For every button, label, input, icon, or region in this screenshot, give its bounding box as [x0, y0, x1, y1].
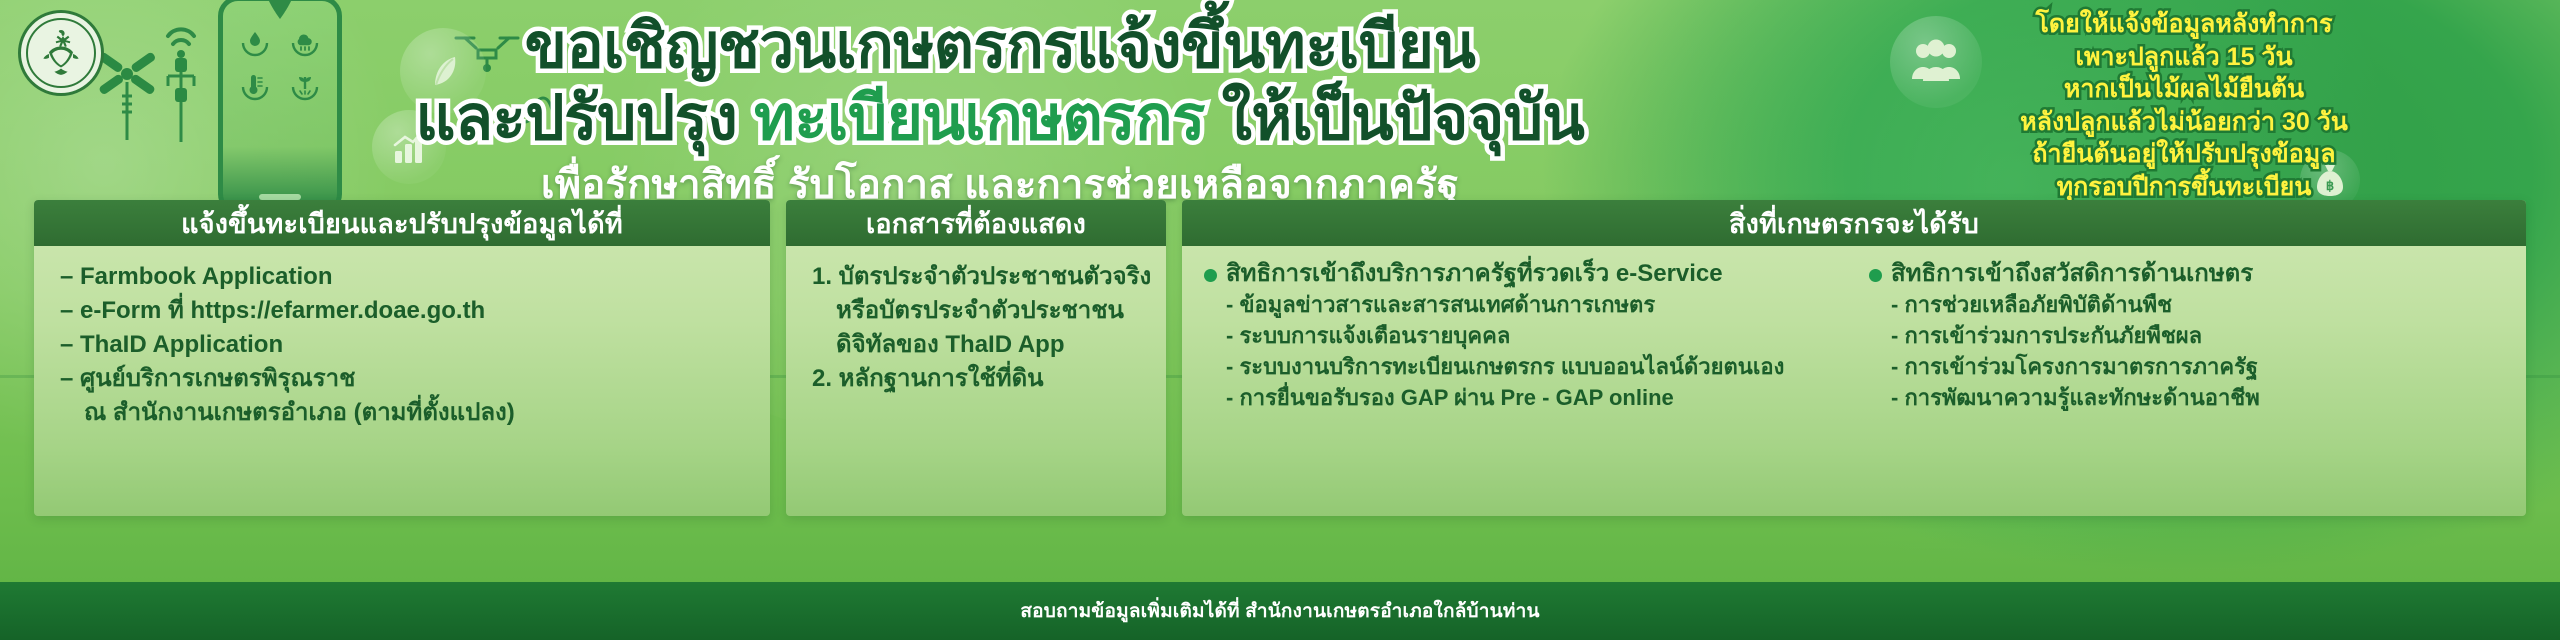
callout-line: โดยให้แจ้งข้อมูลหลังทำการ	[1904, 8, 2464, 41]
list-item: 2. หลักฐานการใช้ที่ดิน	[812, 362, 1144, 396]
callout-line: ถ้ายืนต้นอยู่ให้ปรับปรุงข้อมูล	[1904, 138, 2464, 171]
list-item: – ThaID Application	[60, 328, 748, 362]
headline-line-1: ขอเชิญชวนเกษตรกรแจ้งขึ้นทะเบียน	[0, 14, 2000, 80]
footer-note: สอบถามข้อมูลเพิ่มเติมได้ที่ สำนักงานเกษต…	[1020, 596, 1539, 626]
list-item: – e-Form ที่ https://efarmer.doae.go.th	[60, 294, 748, 328]
panel-mid-title: เอกสารที่ต้องแสดง	[866, 202, 1086, 245]
benefit-item: - ข้อมูลข่าวสารและสารสนเทศด้านการเกษตร	[1204, 290, 1843, 321]
callout-line: หลังปลูกแล้วไม่น้อยกว่า 30 วัน	[1904, 106, 2464, 139]
panel-right-title: สิ่งที่เกษตรกรจะได้รับ	[1729, 202, 1979, 245]
panel-left-title: แจ้งขึ้นทะเบียนและปรับปรุงข้อมูลได้ที่	[181, 202, 623, 245]
panel-farmer-benefits: สิ่งที่เกษตรกรจะได้รับ สิทธิการเข้าถึงบร…	[1182, 200, 2526, 516]
benefit-item: - ระบบการแจ้งเตือนรายบุคคล	[1204, 321, 1843, 352]
garuda-emblem-icon	[18, 10, 104, 96]
panel-right-header: สิ่งที่เกษตรกรจะได้รับ	[1182, 200, 2526, 246]
benefit-item: - การเข้าร่วมโครงการมาตรการภาครัฐ	[1869, 352, 2508, 383]
benefit-group-title: สิทธิการเข้าถึงบริการภาครัฐที่รวดเร็ว e-…	[1226, 258, 1723, 290]
list-item: 1. บัตรประจำตัวประชาชนตัวจริง	[812, 260, 1144, 294]
list-item: – Farmbook Application	[60, 260, 748, 294]
panel-left-header: แจ้งขึ้นทะเบียนและปรับปรุงข้อมูลได้ที่	[34, 200, 770, 246]
footer-strip: สอบถามข้อมูลเพิ่มเติมได้ที่ สำนักงานเกษต…	[0, 582, 2560, 640]
headline-block: ขอเชิญชวนเกษตรกรแจ้งขึ้นทะเบียน และปรับป…	[0, 14, 2000, 209]
headline-line-2-suffix: ให้เป็นปัจจุบัน	[1205, 84, 1585, 153]
list-item-continuation: ดิจิทัลของ ThaID App	[812, 328, 1144, 362]
panel-mid-header: เอกสารที่ต้องแสดง	[786, 200, 1166, 246]
benefit-group: สิทธิการเข้าถึงบริการภาครัฐที่รวดเร็ว e-…	[1204, 258, 1843, 290]
benefit-item: - การยื่นขอรับรอง GAP ผ่าน Pre - GAP onl…	[1204, 383, 1843, 414]
garuda-emblem-glyph	[36, 27, 86, 79]
benefit-group-title: สิทธิการเข้าถึงสวัสดิการด้านเกษตร	[1891, 258, 2253, 290]
panel-registration-channels: แจ้งขึ้นทะเบียนและปรับปรุงข้อมูลได้ที่ –…	[34, 200, 770, 516]
benefit-group: สิทธิการเข้าถึงสวัสดิการด้านเกษตร	[1869, 258, 2508, 290]
list-item: – ศูนย์บริการเกษตรพิรุณราช	[60, 362, 748, 396]
benefit-item: - ระบบงานบริการทะเบียนเกษตรกร แบบออนไลน์…	[1204, 352, 1843, 383]
bullet-dot-icon	[1869, 269, 1882, 282]
callout-line: หากเป็นไม้ผลไม้ยืนต้น	[1904, 73, 2464, 106]
headline-line-2-prefix: และปรับปรุง	[416, 84, 754, 153]
benefits-column-2: สิทธิการเข้าถึงสวัสดิการด้านเกษตร - การช…	[1869, 258, 2508, 506]
callout-block: โดยให้แจ้งข้อมูลหลังทำการ เพาะปลูกแล้ว 1…	[1904, 8, 2464, 203]
headline-line-2: และปรับปรุง ทะเบียนเกษตรกร ให้เป็นปัจจุบ…	[0, 84, 2000, 153]
panel-mid-body: 1. บัตรประจำตัวประชาชนตัวจริง หรือบัตรปร…	[786, 246, 1166, 516]
promotional-banner: ฿ ขอเชิญชวนเกษตรกรแจ้งขึ้นทะเบียน และปรั…	[0, 0, 2560, 640]
list-item-continuation: หรือบัตรประจำตัวประชาชน	[812, 294, 1144, 328]
list-item-continuation: ณ สำนักงานเกษตรอำเภอ (ตามที่ตั้งแปลง)	[60, 396, 748, 430]
info-panels: แจ้งขึ้นทะเบียนและปรับปรุงข้อมูลได้ที่ –…	[0, 200, 2560, 582]
callout-line: เพาะปลูกแล้ว 15 วัน	[1904, 41, 2464, 74]
panel-required-documents: เอกสารที่ต้องแสดง 1. บัตรประจำตัวประชาชน…	[786, 200, 1166, 516]
bullet-dot-icon	[1204, 269, 1217, 282]
headline-line-2-accent: ทะเบียนเกษตรกร	[754, 84, 1205, 153]
benefit-item: - การเข้าร่วมการประกันภัยพืชผล	[1869, 321, 2508, 352]
panel-right-body: สิทธิการเข้าถึงบริการภาครัฐที่รวดเร็ว e-…	[1182, 246, 2526, 516]
benefit-item: - การช่วยเหลือภัยพิบัติด้านพืช	[1869, 290, 2508, 321]
benefits-column-1: สิทธิการเข้าถึงบริการภาครัฐที่รวดเร็ว e-…	[1204, 258, 1843, 506]
benefit-item: - การพัฒนาความรู้และทักษะด้านอาชีพ	[1869, 383, 2508, 414]
callout-line: ทุกรอบปีการขึ้นทะเบียน	[1904, 171, 2464, 204]
panel-left-body: – Farmbook Application – e-Form ที่ http…	[34, 246, 770, 516]
emblem-inner-ring	[26, 18, 96, 88]
